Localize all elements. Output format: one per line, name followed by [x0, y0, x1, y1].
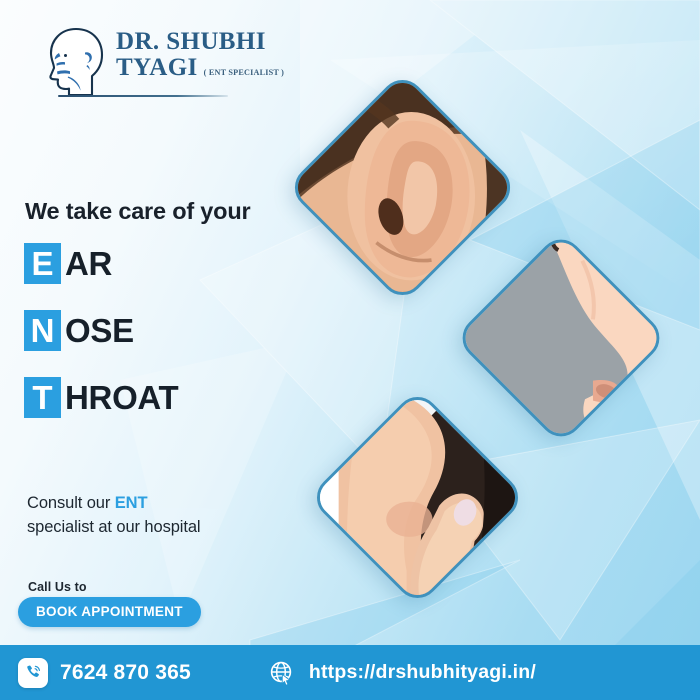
consult-line1-prefix: Consult our [27, 494, 115, 512]
ent-word-list: E AR N OSE T HROAT [24, 243, 178, 418]
ear-photo-image [286, 71, 518, 303]
ent-item-ear: E AR [24, 243, 178, 284]
throat-photo[interactable] [308, 388, 527, 607]
brand-name-line2-row: TYAGI ( ENT SPECIALIST ) [116, 55, 284, 81]
ent-word-rest-nose: OSE [65, 314, 134, 347]
ent-word-rest-ear: AR [65, 247, 112, 280]
call-us-label: Call Us to [28, 580, 87, 594]
ent-item-throat: T HROAT [24, 377, 178, 418]
phone-call-icon [18, 658, 48, 688]
book-appointment-button[interactable]: BOOK APPOINTMENT [18, 597, 201, 627]
consult-line1-highlight: ENT [115, 494, 148, 512]
logo-underline-rule [58, 95, 228, 97]
consult-text: Consult our ENT specialist at our hospit… [27, 492, 201, 540]
brand-wordmark: DR. SHUBHI TYAGI ( ENT SPECIALIST ) [116, 26, 284, 81]
ent-badge-letter-nose: N [24, 310, 61, 351]
footer-phone-contact[interactable]: 7624 870 365 [18, 658, 191, 688]
ent-word-rest-throat: HROAT [65, 381, 178, 414]
head-profile-ent-icon [46, 26, 108, 98]
footer-phone-number: 7624 870 365 [60, 661, 191, 685]
nose-photo[interactable] [454, 231, 669, 446]
nose-photo-image [454, 231, 667, 444]
consult-line2: specialist at our hospital [27, 518, 201, 536]
footer-website-contact[interactable]: https://drshubhityagi.in/ [267, 658, 536, 688]
footer-website-url: https://drshubhityagi.in/ [309, 661, 536, 684]
contact-footer-bar: 7624 870 365 https://drshubhityagi.in/ [0, 645, 700, 700]
ent-item-nose: N OSE [24, 310, 178, 351]
ent-badge-letter-ear: E [24, 243, 61, 284]
ent-badge-letter-throat: T [24, 377, 61, 418]
throat-photo-image [309, 389, 527, 607]
poster-canvas: DR. SHUBHI TYAGI ( ENT SPECIALIST ) We t… [0, 0, 700, 700]
brand-logo[interactable]: DR. SHUBHI TYAGI ( ENT SPECIALIST ) [46, 26, 284, 98]
ear-photo[interactable] [286, 71, 519, 304]
brand-specialty: ( ENT SPECIALIST ) [204, 69, 284, 81]
brand-name-line2: TYAGI [116, 55, 198, 81]
globe-cursor-icon [267, 658, 297, 688]
brand-name-line1: DR. SHUBHI [116, 28, 266, 55]
page-title: We take care of your [25, 198, 250, 225]
